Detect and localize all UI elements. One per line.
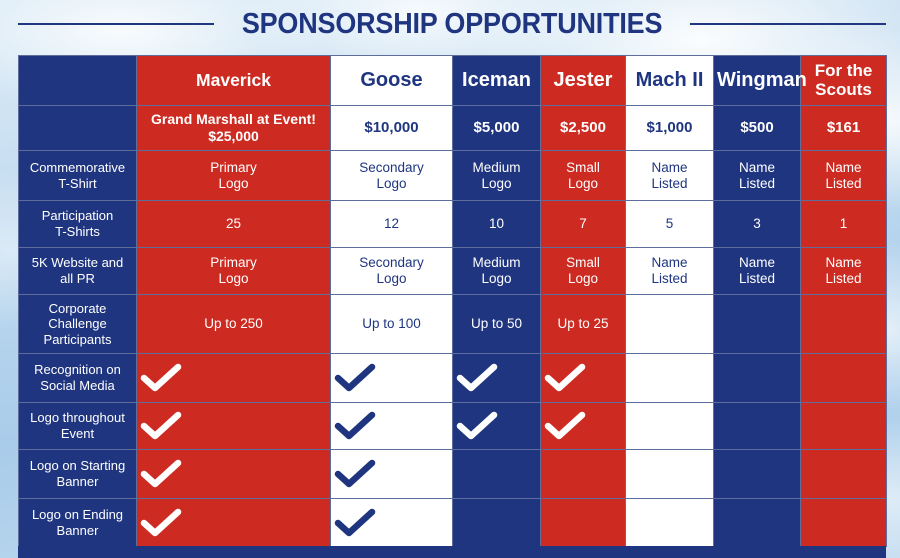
row-label-line1: Commemorative bbox=[30, 160, 125, 175]
checkmark-icon bbox=[140, 411, 327, 441]
table-footer-bar bbox=[18, 546, 886, 558]
cell-line2: Logo bbox=[376, 176, 406, 191]
table-cell: SmallLogo bbox=[541, 151, 626, 201]
cell-line1: Small bbox=[566, 255, 600, 270]
checkmark-icon bbox=[456, 411, 537, 441]
table-cell: NameListed bbox=[801, 248, 887, 295]
checkmark-icon bbox=[544, 363, 622, 393]
table-row: Logo on EndingBanner bbox=[19, 499, 887, 547]
tier-header-for-the-scouts[interactable]: For theScouts bbox=[801, 56, 887, 106]
table-cell: NameListed bbox=[714, 248, 801, 295]
tier-name: Jester bbox=[554, 69, 613, 91]
tier-name-line1: For the bbox=[815, 61, 873, 80]
table-corner-cell bbox=[19, 56, 137, 106]
row-label: CommemorativeT-Shirt bbox=[19, 151, 137, 201]
row-label-line2: all PR bbox=[60, 271, 95, 286]
tier-price: $161 bbox=[827, 119, 860, 136]
price-row-label-cell bbox=[19, 106, 137, 151]
table-cell bbox=[453, 403, 541, 450]
tier-header-wingman[interactable]: Wingman bbox=[714, 56, 801, 106]
table-cell: SecondaryLogo bbox=[331, 151, 453, 201]
table-cell bbox=[801, 450, 887, 499]
cell-line1: Medium bbox=[472, 255, 520, 270]
table-cell bbox=[137, 403, 331, 450]
checkmark-icon bbox=[140, 363, 327, 393]
row-label-line1: Logo on Starting bbox=[30, 458, 125, 473]
table-cell: NameListed bbox=[626, 248, 714, 295]
table-row: CommemorativeT-ShirtPrimaryLogoSecondary… bbox=[19, 151, 887, 201]
tier-price-cell: Grand Marshall at Event!$25,000 bbox=[137, 106, 331, 151]
checkmark-icon bbox=[334, 508, 449, 538]
cell-line1: Up to 25 bbox=[557, 316, 608, 331]
row-label-line2: T-Shirt bbox=[58, 176, 96, 191]
table-cell: Up to 100 bbox=[331, 295, 453, 354]
cell-line1: Small bbox=[566, 160, 600, 175]
table-cell bbox=[453, 354, 541, 403]
table-cell bbox=[541, 499, 626, 547]
cell-line2: Logo bbox=[376, 271, 406, 286]
cell-line1: Up to 50 bbox=[471, 316, 522, 331]
row-label: Logo on StartingBanner bbox=[19, 450, 137, 499]
tier-header-maverick[interactable]: Maverick bbox=[137, 56, 331, 106]
row-label-line2: Banner bbox=[57, 523, 99, 538]
row-label-line1: Logo on Ending bbox=[32, 507, 123, 522]
cell-line1: 5 bbox=[666, 216, 674, 231]
row-label-line2: Event bbox=[61, 426, 94, 441]
row-label-line2: T-Shirts bbox=[55, 224, 100, 239]
cell-line1: Up to 100 bbox=[362, 316, 421, 331]
table-cell: NameListed bbox=[626, 151, 714, 201]
cell-line1: Primary bbox=[210, 255, 257, 270]
table-cell bbox=[714, 295, 801, 354]
cell-line2: Listed bbox=[739, 271, 775, 286]
cell-line1: Medium bbox=[472, 160, 520, 175]
row-label-line2: Banner bbox=[57, 474, 99, 489]
row-label: ParticipationT-Shirts bbox=[19, 201, 137, 248]
table-cell bbox=[626, 354, 714, 403]
tier-header-goose[interactable]: Goose bbox=[331, 56, 453, 106]
tier-header-row: MaverickGooseIcemanJesterMach IIWingmanF… bbox=[19, 56, 887, 106]
cell-line2: Listed bbox=[739, 176, 775, 191]
tier-price-line1: Grand Marshall at Event! bbox=[151, 111, 316, 127]
title-row: SPONSORSHIP OPPORTUNITIES bbox=[18, 2, 886, 46]
tier-price-line2: $25,000 bbox=[208, 128, 259, 144]
cell-line2: Listed bbox=[651, 176, 687, 191]
table-cell: 7 bbox=[541, 201, 626, 248]
tier-name-line2: Scouts bbox=[815, 80, 872, 99]
table-cell: Up to 50 bbox=[453, 295, 541, 354]
table-row: 5K Website andall PRPrimaryLogoSecondary… bbox=[19, 248, 887, 295]
table-cell: NameListed bbox=[801, 151, 887, 201]
table-cell: NameListed bbox=[714, 151, 801, 201]
row-label-line3: Participants bbox=[44, 332, 112, 347]
table-cell bbox=[541, 354, 626, 403]
checkmark-icon bbox=[140, 508, 327, 538]
table-cell bbox=[626, 295, 714, 354]
row-label: Logo throughoutEvent bbox=[19, 403, 137, 450]
cell-line1: 3 bbox=[753, 216, 761, 231]
table-cell: 10 bbox=[453, 201, 541, 248]
cell-line1: Secondary bbox=[359, 160, 424, 175]
table-cell bbox=[714, 450, 801, 499]
row-label-line1: 5K Website and bbox=[32, 255, 124, 270]
table-cell bbox=[331, 450, 453, 499]
tier-price-cell: $5,000 bbox=[453, 106, 541, 151]
table-cell bbox=[714, 499, 801, 547]
page-title: SPONSORSHIP OPPORTUNITIES bbox=[242, 8, 662, 41]
tier-price: $1,000 bbox=[647, 119, 693, 136]
cell-line1: Name bbox=[651, 160, 687, 175]
checkmark-icon bbox=[140, 459, 327, 489]
cell-line1: Name bbox=[651, 255, 687, 270]
table-cell: 5 bbox=[626, 201, 714, 248]
table-cell: 1 bbox=[801, 201, 887, 248]
cell-line2: Logo bbox=[481, 271, 511, 286]
cell-line1: 10 bbox=[489, 216, 504, 231]
table-cell: MediumLogo bbox=[453, 151, 541, 201]
row-label-line1: Participation bbox=[42, 208, 114, 223]
tier-price-row: Grand Marshall at Event!$25,000$10,000$5… bbox=[19, 106, 887, 151]
tier-name: Iceman bbox=[462, 69, 531, 91]
cell-line1: 25 bbox=[226, 216, 241, 231]
cell-line1: Name bbox=[739, 160, 775, 175]
tier-price: $500 bbox=[740, 119, 773, 136]
row-label: Logo on EndingBanner bbox=[19, 499, 137, 547]
checkmark-icon bbox=[334, 459, 449, 489]
tier-header-mach-ii[interactable]: Mach II bbox=[626, 56, 714, 106]
cell-line1: Secondary bbox=[359, 255, 424, 270]
cell-line1: Up to 250 bbox=[204, 316, 263, 331]
checkmark-icon bbox=[334, 411, 449, 441]
tier-name: Wingman bbox=[717, 69, 807, 91]
table-cell: SmallLogo bbox=[541, 248, 626, 295]
tier-price-cell: $161 bbox=[801, 106, 887, 151]
tier-price-cell: $500 bbox=[714, 106, 801, 151]
tier-price: $5,000 bbox=[474, 119, 520, 136]
cell-line2: Listed bbox=[651, 271, 687, 286]
tier-price: $10,000 bbox=[364, 119, 418, 136]
table-cell bbox=[541, 403, 626, 450]
table-cell bbox=[801, 499, 887, 547]
cell-line2: Logo bbox=[481, 176, 511, 191]
cell-line1: Name bbox=[825, 255, 861, 270]
cell-line2: Logo bbox=[568, 176, 598, 191]
table-row: CorporateChallengeParticipantsUp to 250U… bbox=[19, 295, 887, 354]
cell-line2: Listed bbox=[825, 271, 861, 286]
row-label-line1: Logo throughout bbox=[30, 410, 125, 425]
table-cell: 3 bbox=[714, 201, 801, 248]
table-cell bbox=[137, 450, 331, 499]
table-cell bbox=[801, 295, 887, 354]
tier-name: Mach II bbox=[636, 69, 704, 91]
table-row: ParticipationT-Shirts2512107531 bbox=[19, 201, 887, 248]
row-label-line1: Recognition on bbox=[34, 362, 121, 377]
row-label: Recognition onSocial Media bbox=[19, 354, 137, 403]
cell-line1: Name bbox=[825, 160, 861, 175]
table-cell: PrimaryLogo bbox=[137, 151, 331, 201]
tier-price-cell: $1,000 bbox=[626, 106, 714, 151]
cell-line2: Logo bbox=[218, 176, 248, 191]
cell-line2: Listed bbox=[825, 176, 861, 191]
table-cell: Up to 250 bbox=[137, 295, 331, 354]
cell-line1: Primary bbox=[210, 160, 257, 175]
table-cell bbox=[626, 403, 714, 450]
row-label-line2: Challenge bbox=[48, 316, 107, 331]
row-label: 5K Website andall PR bbox=[19, 248, 137, 295]
checkmark-icon bbox=[544, 411, 622, 441]
tier-name: Maverick bbox=[196, 70, 271, 90]
sponsorship-table-wrapper: MaverickGooseIcemanJesterMach IIWingmanF… bbox=[18, 55, 886, 558]
tier-price-cell: $10,000 bbox=[331, 106, 453, 151]
tier-price-cell: $2,500 bbox=[541, 106, 626, 151]
cell-line1: 1 bbox=[840, 216, 848, 231]
table-cell bbox=[801, 354, 887, 403]
title-rule-left bbox=[18, 23, 214, 25]
table-cell: MediumLogo bbox=[453, 248, 541, 295]
table-cell bbox=[714, 354, 801, 403]
table-cell bbox=[541, 450, 626, 499]
checkmark-icon bbox=[334, 363, 449, 393]
tier-price: $2,500 bbox=[560, 119, 606, 136]
table-cell: Up to 25 bbox=[541, 295, 626, 354]
table-cell: 12 bbox=[331, 201, 453, 248]
table-cell: PrimaryLogo bbox=[137, 248, 331, 295]
table-cell bbox=[453, 450, 541, 499]
sponsorship-table: MaverickGooseIcemanJesterMach IIWingmanF… bbox=[18, 55, 887, 547]
table-cell bbox=[714, 403, 801, 450]
cell-line1: Name bbox=[739, 255, 775, 270]
table-cell bbox=[626, 450, 714, 499]
table-cell bbox=[626, 499, 714, 547]
checkmark-icon bbox=[456, 363, 537, 393]
table-cell bbox=[453, 499, 541, 547]
row-label-line2: Social Media bbox=[40, 378, 114, 393]
row-label-line1: Corporate bbox=[49, 301, 107, 316]
cell-line1: 7 bbox=[579, 216, 587, 231]
tier-header-iceman[interactable]: Iceman bbox=[453, 56, 541, 106]
cell-line2: Logo bbox=[218, 271, 248, 286]
table-cell bbox=[331, 403, 453, 450]
table-cell: 25 bbox=[137, 201, 331, 248]
tier-header-jester[interactable]: Jester bbox=[541, 56, 626, 106]
table-cell bbox=[331, 499, 453, 547]
table-row: Logo on StartingBanner bbox=[19, 450, 887, 499]
table-cell bbox=[137, 499, 331, 547]
title-rule-right bbox=[690, 23, 886, 25]
table-cell: SecondaryLogo bbox=[331, 248, 453, 295]
row-label: CorporateChallengeParticipants bbox=[19, 295, 137, 354]
table-row: Logo throughoutEvent bbox=[19, 403, 887, 450]
table-cell bbox=[137, 354, 331, 403]
table-cell bbox=[331, 354, 453, 403]
cell-line1: 12 bbox=[384, 216, 399, 231]
tier-name: Goose bbox=[360, 69, 422, 91]
cell-line2: Logo bbox=[568, 271, 598, 286]
table-row: Recognition onSocial Media bbox=[19, 354, 887, 403]
table-cell bbox=[801, 403, 887, 450]
